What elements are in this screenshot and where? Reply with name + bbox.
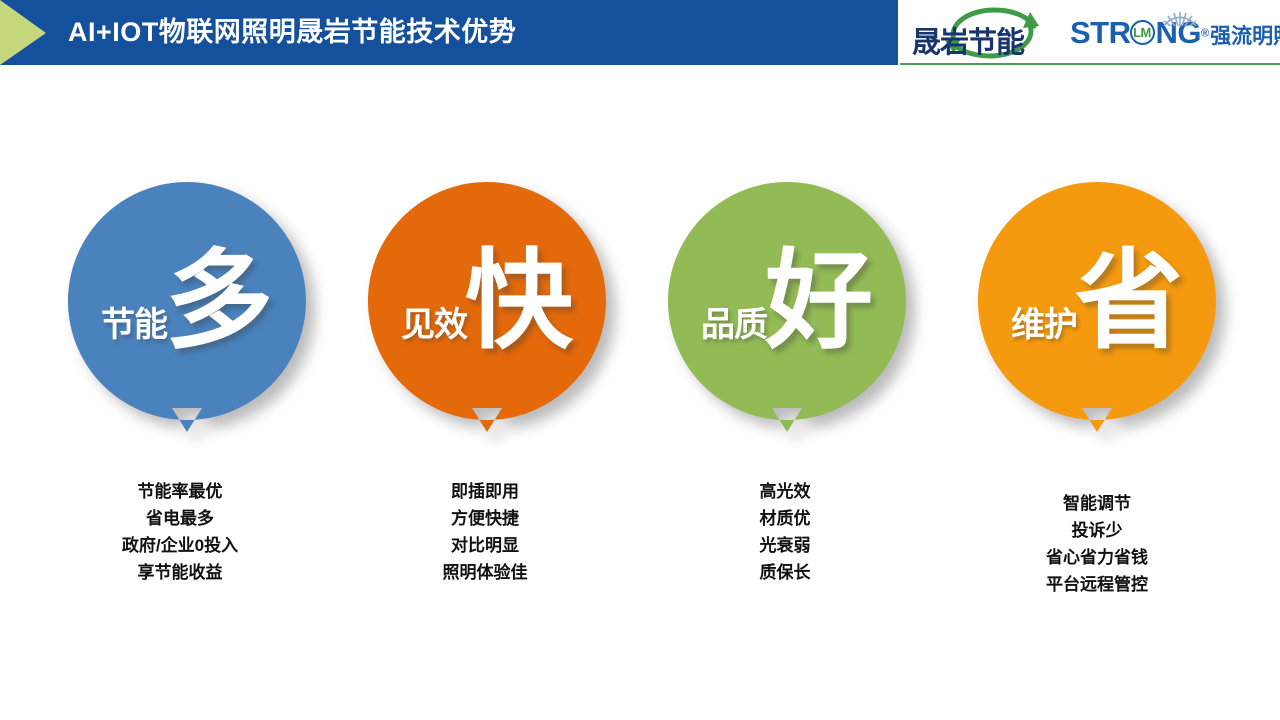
bubble-label-4: 维护 省 xyxy=(978,182,1216,420)
bubble-small-text-4: 维护 xyxy=(1011,308,1077,342)
caption-item: 节能率最优 xyxy=(40,478,320,505)
caption-item: 材质优 xyxy=(645,505,925,532)
caption-list-1: 节能率最优 省电最多 政府/企业0投入 享节能收益 xyxy=(40,478,320,586)
bubble-big-text-4: 省 xyxy=(1075,247,1183,355)
caption-item: 方便快捷 xyxy=(345,505,625,532)
bubble-label-2: 见效 快 xyxy=(368,182,606,420)
caption-item: 质保长 xyxy=(645,559,925,586)
bubble-3[interactable]: 品质 好 xyxy=(668,182,906,420)
caption-item: 平台远程管控 xyxy=(957,571,1237,598)
advantage-column-2: 见效 快 xyxy=(368,182,608,420)
bubble-small-text-2: 见效 xyxy=(401,308,467,342)
caption-item: 政府/企业0投入 xyxy=(40,532,320,559)
logo-chinese-name: 晟岩节能 xyxy=(912,19,1024,61)
bubble-small-text-3: 品质 xyxy=(701,308,767,342)
bubble-1[interactable]: 节能 多 xyxy=(68,182,306,420)
caption-item: 省电最多 xyxy=(40,505,320,532)
caption-item: 光衰弱 xyxy=(645,532,925,559)
caption-item: 即插即用 xyxy=(345,478,625,505)
bubble-label-1: 节能 多 xyxy=(68,182,306,420)
caption-item: 享节能收益 xyxy=(40,559,320,586)
bubble-big-text-2: 快 xyxy=(465,247,573,355)
bubble-big-text-3: 好 xyxy=(765,247,873,355)
caption-item: 对比明显 xyxy=(345,532,625,559)
advantage-bubble-group: 节能 多 节能率最优 省电最多 政府/企业0投入 享节能收益 见效 快 即插即用… xyxy=(0,0,1280,720)
advantage-column-4: 维护 省 xyxy=(978,182,1218,420)
caption-item: 省心省力省钱 xyxy=(957,544,1237,571)
caption-list-4: 智能调节 投诉少 省心省力省钱 平台远程管控 xyxy=(957,490,1237,598)
bubble-big-text-1: 多 xyxy=(165,247,273,355)
caption-item: 高光效 xyxy=(645,478,925,505)
bubble-4[interactable]: 维护 省 xyxy=(978,182,1216,420)
caption-list-3: 高光效 材质优 光衰弱 质保长 xyxy=(645,478,925,586)
caption-list-2: 即插即用 方便快捷 对比明显 照明体验佳 xyxy=(345,478,625,586)
caption-item: 投诉少 xyxy=(957,517,1237,544)
bubble-label-3: 品质 好 xyxy=(668,182,906,420)
bubble-2[interactable]: 见效 快 xyxy=(368,182,606,420)
bubble-small-text-1: 节能 xyxy=(101,308,167,342)
advantage-column-1: 节能 多 xyxy=(68,182,308,420)
advantage-column-3: 品质 好 xyxy=(668,182,908,420)
caption-item: 照明体验佳 xyxy=(345,559,625,586)
caption-item: 智能调节 xyxy=(957,490,1237,517)
